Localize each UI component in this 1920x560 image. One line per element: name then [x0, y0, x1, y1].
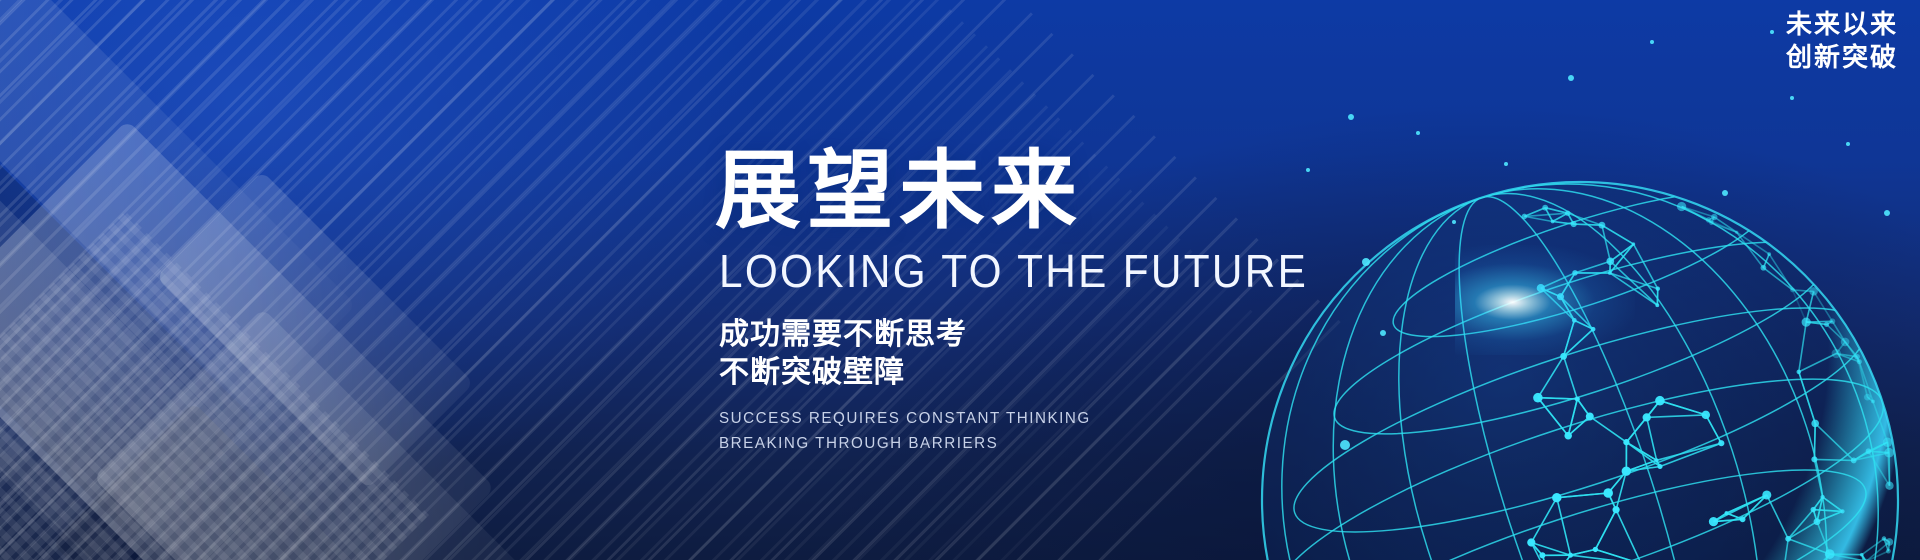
sparkle-dot: [1416, 131, 1420, 135]
sparkle-dot: [1568, 75, 1574, 81]
sparkle-dot: [1362, 258, 1370, 266]
corner-tagline-line2: 创新突破: [1786, 41, 1898, 74]
sparkle-dot: [1722, 190, 1728, 196]
subheading-chinese-line2: 不断突破壁障: [719, 354, 1455, 392]
subheading-english-line2: BREAKING THROUGH BARRIERS: [719, 432, 1418, 457]
sparkle-dot: [1884, 210, 1890, 216]
subheading-chinese-block: 成功需要不断思考 不断突破壁障: [719, 316, 1455, 393]
corner-tagline: 未来以来 创新突破: [1786, 8, 1898, 75]
headline-english: LOOKING TO THE FUTURE: [719, 248, 1396, 294]
sparkle-dot: [1504, 162, 1508, 166]
sparkle-dot: [1452, 220, 1456, 224]
sparkle-dot: [1306, 168, 1310, 172]
hero-copy-block: 展望未来 LOOKING TO THE FUTURE 成功需要不断思考 不断突破…: [715, 148, 1455, 456]
sparkle-dot: [1340, 440, 1350, 450]
sparkle-dot: [1770, 30, 1774, 34]
sparkle-dot: [1380, 330, 1386, 336]
headline-chinese: 展望未来: [715, 148, 1455, 234]
sparkle-dot: [1790, 96, 1794, 100]
corner-tagline-line1: 未来以来: [1786, 8, 1898, 41]
hero-banner: 未来以来 创新突破 展望未来 LOOKING TO THE FUTURE 成功需…: [0, 0, 1920, 560]
subheading-english-line1: SUCCESS REQUIRES CONSTANT THINKING: [719, 407, 1418, 432]
sparkle-dot: [1348, 114, 1354, 120]
subheading-chinese-line1: 成功需要不断思考: [719, 316, 1455, 354]
sparkle-dot: [1846, 142, 1850, 146]
sparkle-dot: [1650, 40, 1654, 44]
